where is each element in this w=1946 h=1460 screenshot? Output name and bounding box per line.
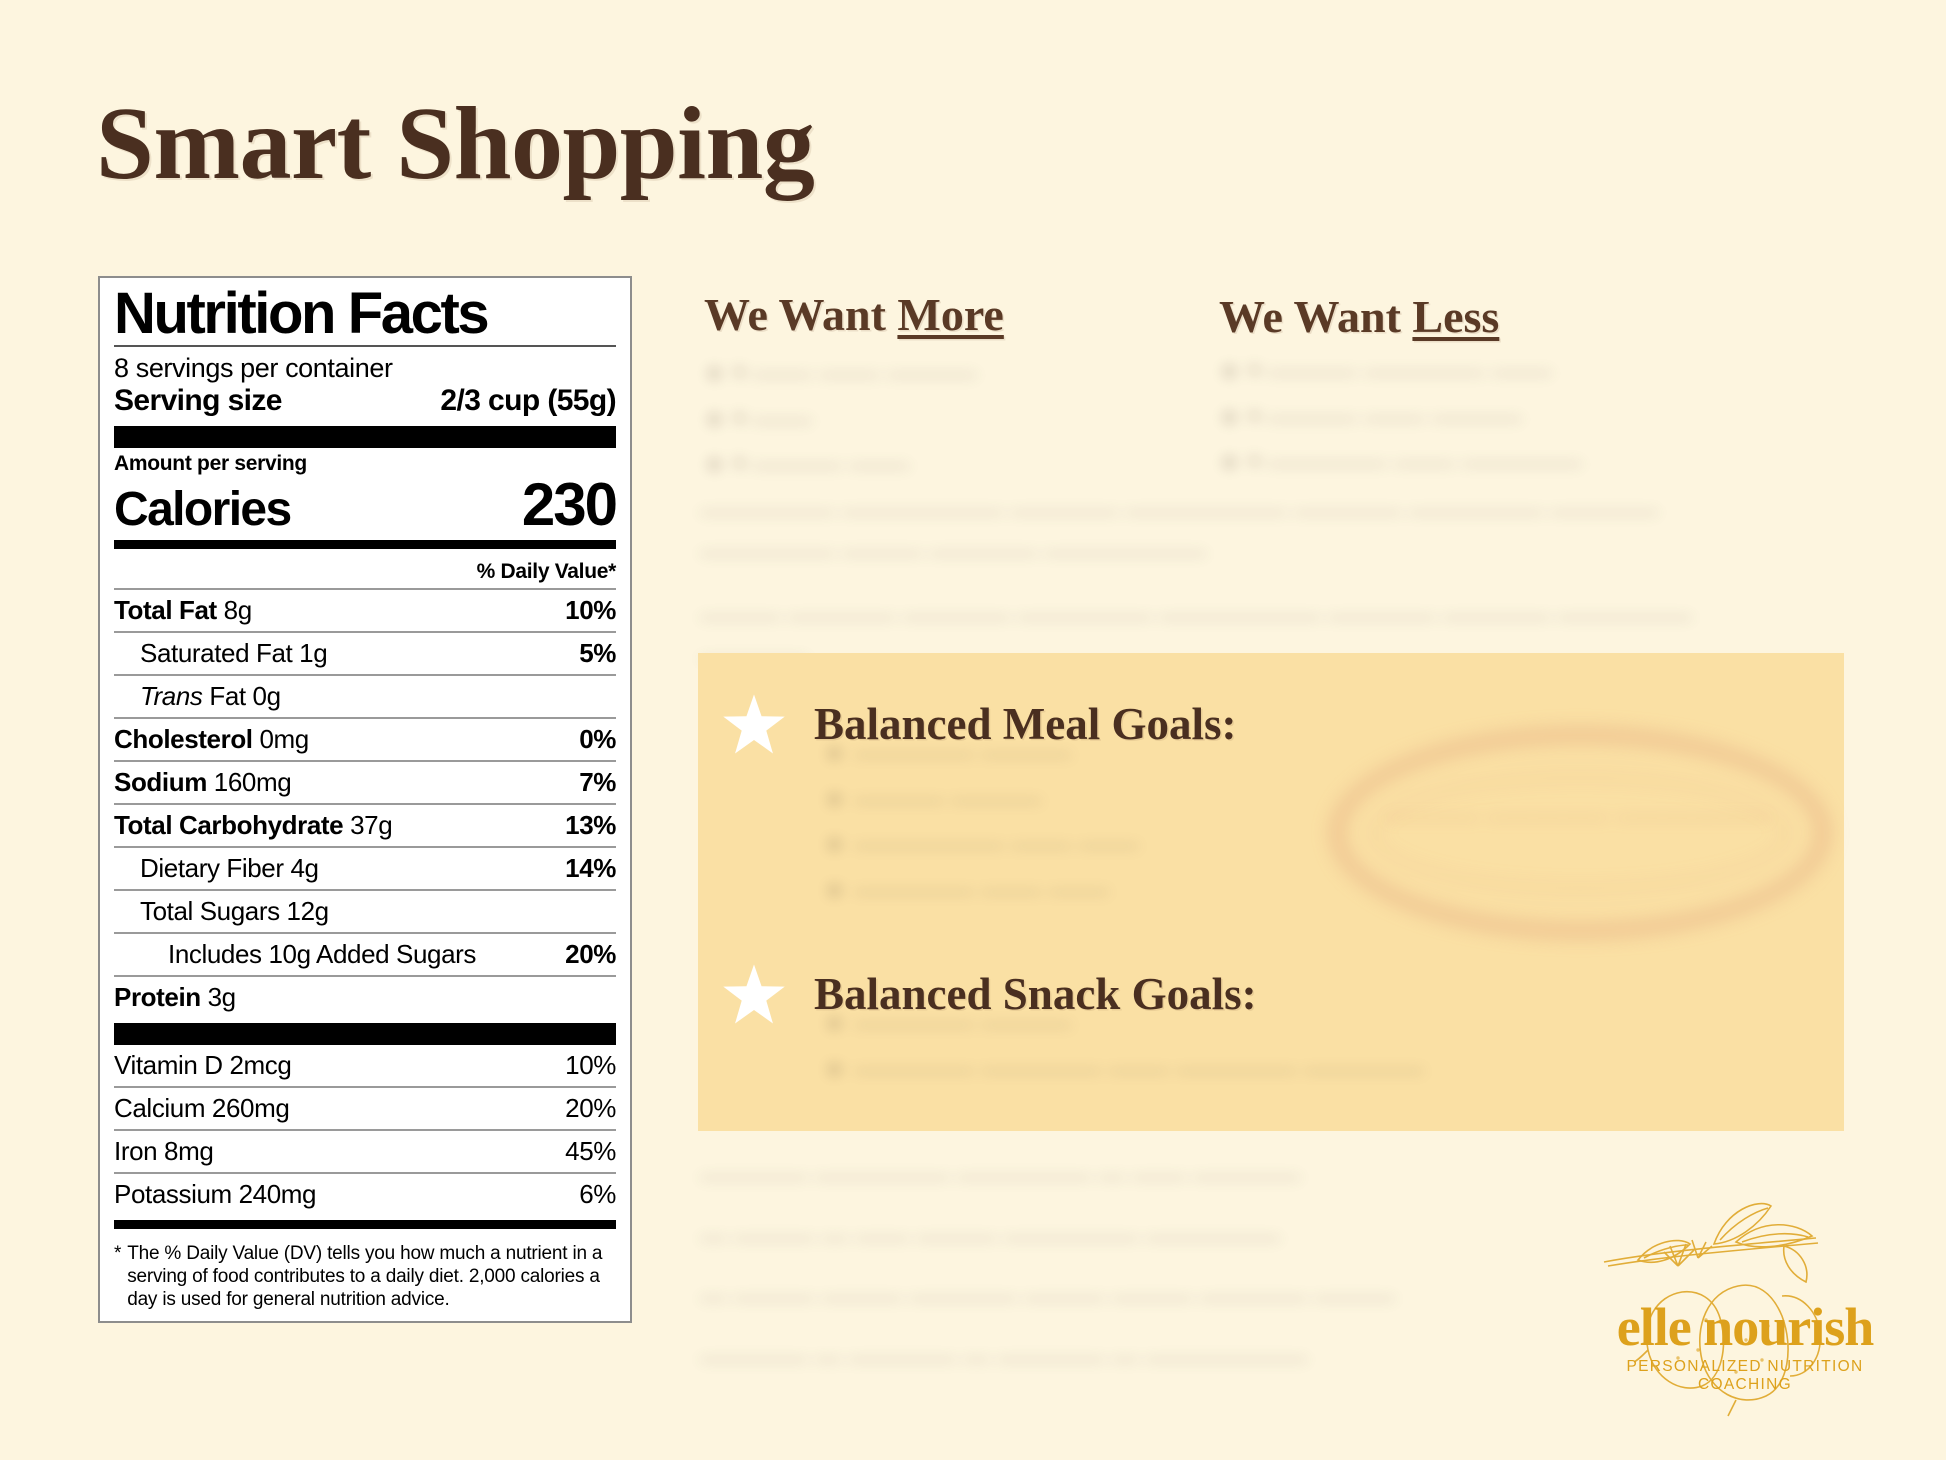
list-item: • —— bbox=[734, 396, 1170, 442]
daily-value-footnote: * The % Daily Value (DV) tells you how m… bbox=[114, 1234, 616, 1312]
heading-we-want-less: We Want Less bbox=[1219, 290, 1499, 343]
list-item: • ——— —— ——— bbox=[1249, 394, 1775, 440]
elle-nourish-logo: elle nourish PERSONALIZED NUTRITION COAC… bbox=[1586, 1200, 1904, 1422]
nutrient-daily-value: 13% bbox=[565, 810, 616, 841]
vitamin-row: Vitamin D 2mcg10% bbox=[114, 1045, 616, 1086]
logo-tagline: PERSONALIZED NUTRITION COACHING bbox=[1586, 1358, 1904, 1394]
list-item: • ——— ———— —— bbox=[1249, 348, 1775, 394]
nutrient-name: Protein 3g bbox=[114, 982, 236, 1013]
serving-size-row: Serving size 2/3 cup (55g) bbox=[114, 384, 616, 421]
balanced-snack-goals-item: Balanced Snack Goals: bbox=[722, 963, 1257, 1025]
logo-wordmark: elle nourish bbox=[1586, 1296, 1904, 1358]
list-item: • ——— —— bbox=[734, 441, 1170, 487]
vitamin-rows: Vitamin D 2mcg10%Calcium 260mg20%Iron 8m… bbox=[114, 1045, 616, 1215]
serving-size-label: Serving size bbox=[114, 384, 282, 418]
footnote-marker: * bbox=[114, 1242, 121, 1312]
nutrient-row: Trans Fat 0g bbox=[114, 674, 616, 717]
vitamin-row: Calcium 260mg20% bbox=[114, 1086, 616, 1129]
page-title: Smart Shopping bbox=[96, 88, 814, 200]
nutrient-row: Total Sugars 12g bbox=[114, 889, 616, 932]
nutrient-row: Includes 10g Added Sugars20% bbox=[114, 932, 616, 975]
nf-divider-thick-1 bbox=[114, 426, 616, 448]
vitamin-row: Potassium 240mg6% bbox=[114, 1172, 616, 1215]
vitamin-daily-value: 6% bbox=[579, 1179, 616, 1210]
vitamin-name: Calcium 260mg bbox=[114, 1093, 289, 1124]
servings-per-container: 8 servings per container bbox=[114, 347, 616, 384]
vitamin-name: Potassium 240mg bbox=[114, 1179, 316, 1210]
nutrient-name: Sodium 160mg bbox=[114, 767, 291, 798]
nf-divider-thick-2 bbox=[114, 1023, 616, 1045]
heading-less-prefix: We Want bbox=[1219, 291, 1412, 342]
serving-size-value: 2/3 cup (55g) bbox=[440, 384, 616, 418]
nutrient-name: Cholesterol 0mg bbox=[114, 724, 309, 755]
footnote-text: The % Daily Value (DV) tells you how muc… bbox=[127, 1242, 616, 1312]
heading-more-emphasis: More bbox=[897, 289, 1003, 340]
star-icon bbox=[722, 693, 786, 755]
nutrient-daily-value: 7% bbox=[579, 767, 616, 798]
heading-less-emphasis: Less bbox=[1412, 291, 1499, 342]
daily-value-header: % Daily Value* bbox=[114, 554, 616, 588]
nutrient-daily-value: 14% bbox=[565, 853, 616, 884]
nutrient-row: Cholesterol 0mg0% bbox=[114, 717, 616, 760]
vitamin-name: Vitamin D 2mcg bbox=[114, 1050, 291, 1081]
blurred-paragraph-1-text: ————— —————— ———— —————— ———— ————— ————… bbox=[700, 490, 1790, 571]
nutrient-daily-value: 5% bbox=[579, 638, 616, 669]
list-item: • —— —— ——— bbox=[734, 350, 1170, 396]
nutrient-name: Total Fat 8g bbox=[114, 595, 252, 626]
star-icon bbox=[722, 963, 786, 1025]
nutrient-name: Total Sugars 12g bbox=[114, 896, 329, 927]
nutrient-row: Total Carbohydrate 37g13% bbox=[114, 803, 616, 846]
nutrient-daily-value: 20% bbox=[565, 939, 616, 970]
heading-we-want-more: We Want More bbox=[704, 288, 1004, 341]
vitamin-daily-value: 45% bbox=[565, 1136, 616, 1167]
nutrient-daily-value: 10% bbox=[565, 595, 616, 626]
nutrient-name: Total Carbohydrate 37g bbox=[114, 810, 392, 841]
blurred-paragraph-1: ————— —————— ———— —————— ———— ————— ————… bbox=[700, 490, 1790, 571]
calories-row: Calories 230 bbox=[114, 476, 616, 535]
calories-value: 230 bbox=[522, 476, 616, 533]
blurred-less-list: • ——— ———— ——• ——— —— ———• ———— —— ———— bbox=[1215, 348, 1775, 485]
nutrient-name: Saturated Fat 1g bbox=[114, 638, 327, 669]
nutrient-name: Dietary Fiber 4g bbox=[114, 853, 319, 884]
vitamin-name: Iron 8mg bbox=[114, 1136, 213, 1167]
nf-divider-medium-2 bbox=[114, 1220, 616, 1229]
nutrient-name: Trans Fat 0g bbox=[114, 681, 281, 712]
nutrient-name: Includes 10g Added Sugars bbox=[114, 939, 476, 970]
list-item: • ———— —— ———— bbox=[1249, 439, 1775, 485]
balanced-meal-goals-title: Balanced Meal Goals: bbox=[814, 698, 1236, 750]
calories-label: Calories bbox=[114, 487, 291, 533]
blurred-line: ———— ————— ————— — —— ———— bbox=[700, 1155, 1800, 1196]
blurred-more-list: • —— —— ———• ——• ——— —— bbox=[700, 350, 1170, 487]
nutrient-row: Total Fat 8g10% bbox=[114, 588, 616, 631]
balanced-meal-goals-item: Balanced Meal Goals: bbox=[722, 693, 1236, 755]
nutrient-daily-value: 0% bbox=[579, 724, 616, 755]
nutrient-row: Sodium 160mg7% bbox=[114, 760, 616, 803]
heading-more-prefix: We Want bbox=[704, 289, 897, 340]
nutrition-facts-label: Nutrition Facts 8 servings per container… bbox=[98, 276, 632, 1323]
nutrient-rows: Total Fat 8g10%Saturated Fat 1g5%Trans F… bbox=[114, 588, 616, 1018]
vitamin-daily-value: 20% bbox=[565, 1093, 616, 1124]
balanced-snack-goals-title: Balanced Snack Goals: bbox=[814, 968, 1257, 1020]
nutrient-row: Saturated Fat 1g5% bbox=[114, 631, 616, 674]
vitamin-daily-value: 10% bbox=[565, 1050, 616, 1081]
balanced-goals-callout: Balanced Meal Goals: Balanced Snack Goal… bbox=[698, 653, 1844, 1131]
vitamin-row: Iron 8mg45% bbox=[114, 1129, 616, 1172]
nutrient-row: Dietary Fiber 4g14% bbox=[114, 846, 616, 889]
nutrition-facts-title: Nutrition Facts bbox=[114, 286, 616, 345]
nutrient-row: Protein 3g bbox=[114, 975, 616, 1018]
nf-divider-medium-1 bbox=[114, 540, 616, 549]
